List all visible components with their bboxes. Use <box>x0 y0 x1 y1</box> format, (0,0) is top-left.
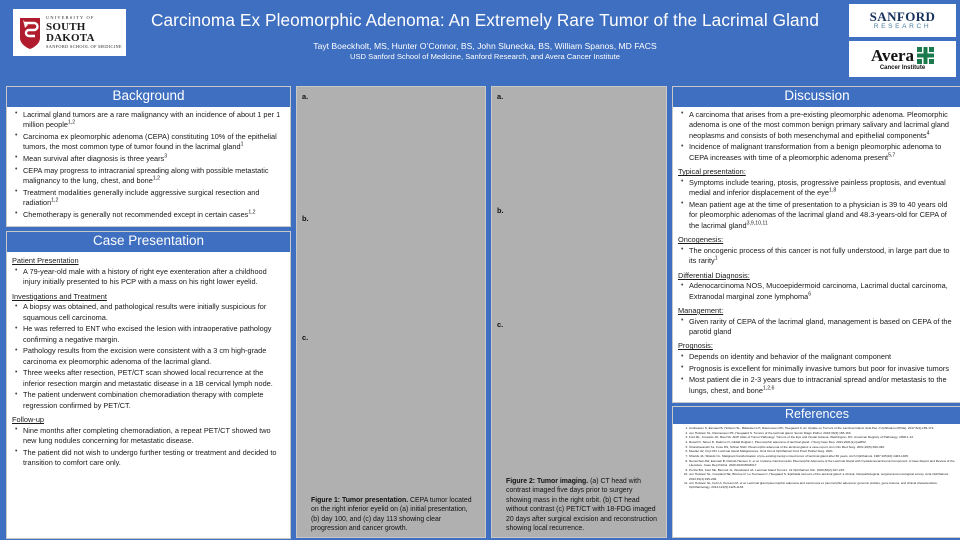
reference-item: Chandravanshi SL, Fuse DS, Sthnar SGD. P… <box>689 445 957 449</box>
right-column: Discussion A carcinoma that arises from … <box>672 86 960 538</box>
sponsor-logos: SANFORD RESEARCH Avera <box>849 4 956 77</box>
figure1-caption: Figure 1: Tumor presentation. CEPA tumor… <box>302 494 480 534</box>
references-heading: References <box>672 406 960 424</box>
list-item: CEPA may progress to intracranial spread… <box>12 166 285 187</box>
list-item: Adenocarcinoma NOS, Mucoepidermoid carci… <box>678 281 956 302</box>
list-item: A 79-year-old male with a history of rig… <box>12 267 285 288</box>
reference-item: Font RL, Croxatto JO, Rao NA. AFIP Atlas… <box>689 435 957 439</box>
citation-ref: 1 <box>241 142 244 148</box>
list-item: He was referred to ENT who excised the l… <box>12 324 285 345</box>
bullet-text: Incidence of malignant transformation fr… <box>689 142 941 161</box>
list-item: Mean survival after diagnosis is three y… <box>12 154 285 164</box>
bullet-text: Symptoms include tearing, ptosis, progre… <box>689 178 946 197</box>
subheading-follow-up: Follow-up <box>12 415 285 425</box>
citation-ref: 3 <box>164 153 167 159</box>
reference-item: Shields JA, Shields CL. Malignant transf… <box>689 454 957 458</box>
investigations-treatment-list: A biopsy was obtained, and pathological … <box>12 302 285 411</box>
citation-ref: 1,8 <box>829 188 836 194</box>
bullet-text: Most patient die in 2-3 years due to int… <box>689 375 947 394</box>
subheading-patient-presentation: Patient Presentation <box>12 256 285 266</box>
citation-ref: 1,2,6 <box>763 385 775 391</box>
list-item: Given rarity of CEPA of the lacrimal gla… <box>678 317 956 338</box>
subheading-oncogenesis: Oncogenesis: <box>678 235 956 245</box>
bullet-text: Lacrimal gland tumors are a rare maligna… <box>23 110 280 129</box>
usd-logo-line3: SANFORD SCHOOL OF MEDICINE <box>46 45 122 49</box>
citation-ref: 1,2 <box>248 209 255 215</box>
discussion-body: A carcinoma that arises from a pre-exist… <box>672 107 960 404</box>
discussion-panel: Discussion A carcinoma that arises from … <box>672 86 960 403</box>
bullet-text: A carcinoma that arises from a pre-exist… <box>689 110 949 140</box>
list-item: The patient did not wish to undergo furt… <box>12 448 285 469</box>
list-item: Carcinoma ex pleomorphic adenoma (CEPA) … <box>12 132 285 153</box>
figure1-label-b: b. <box>302 213 313 223</box>
reference-item: Mueller AV, Criyl DN. Lacrimal Gland Mal… <box>689 449 957 453</box>
oncogenesis-list: The oncogenic process of this cancer is … <box>678 246 956 267</box>
follow-up-list: Nine months after completing chemoradiat… <box>12 426 285 469</box>
figure2-label-a: a. <box>497 91 508 101</box>
reference-item: von Holstein SL, Fehr A, Persson M, et a… <box>689 481 957 490</box>
list-item: Chemotherapy is generally not recommende… <box>12 210 285 220</box>
reference-item: von Holstein SL, Coupland SE, Briscoe D,… <box>689 472 957 481</box>
bullet-text: Mean patient age at the time of presenta… <box>689 200 947 230</box>
reference-item: Andreasen S, Esmaeli B, Holstein SL, Mik… <box>689 426 957 430</box>
background-bullet-list: Lacrimal gland tumors are a rare maligna… <box>12 110 285 220</box>
list-item: Mean patient age at the time of presenta… <box>678 200 956 231</box>
management-list: Given rarity of CEPA of the lacrimal gla… <box>678 317 956 338</box>
bullet-text: Carcinoma ex pleomorphic adenoma (CEPA) … <box>23 132 277 151</box>
case-presentation-body: Patient Presentation A 79-year-old male … <box>6 252 291 539</box>
background-heading: Background <box>6 86 291 107</box>
subheading-prognosis: Prognosis: <box>678 341 956 351</box>
figure1-panel: a. b. c. <box>296 86 486 538</box>
reference-item: Nemechek AW, Esmaeli B, Diebolt-Hansen C… <box>689 459 957 468</box>
references-body: Andreasen S, Esmaeli B, Holstein SL, Mik… <box>672 424 960 538</box>
list-item: The patient underwent combination chemor… <box>12 390 285 411</box>
citation-ref: 5,7 <box>888 152 895 158</box>
subheading-investigations-treatment: Investigations and Treatment <box>12 292 285 302</box>
poster-body: Background Lacrimal gland tumors are a r… <box>0 82 960 540</box>
list-item: A biopsy was obtained, and pathological … <box>12 302 285 323</box>
figure2-item-a: a. <box>497 91 661 201</box>
citation-ref: 1,2 <box>68 120 75 126</box>
bullet-text: Mean survival after diagnosis is three y… <box>23 154 164 163</box>
avera-cross-icon <box>917 47 934 64</box>
list-item: Nine months after completing chemoradiat… <box>12 426 285 447</box>
sanford-logo-line2: RESEARCH <box>874 24 931 31</box>
list-item: Depends on identity and behavior of the … <box>678 352 956 362</box>
citation-ref: 6 <box>808 291 811 297</box>
figure1-label-c: c. <box>302 332 313 342</box>
bullet-text: Treatment modalities generally include a… <box>23 188 259 207</box>
list-item: Three weeks after resection, PET/CT scan… <box>12 368 285 389</box>
reference-item: von Holstein SL, Rasmussen PK, Heegaard … <box>689 431 957 435</box>
figure1-column: a. b. c. <box>296 86 486 538</box>
sanford-research-logo: SANFORD RESEARCH <box>849 4 956 37</box>
usd-logo-text: UNIVERSITY OF SOUTH DAKOTA SANFORD SCHOO… <box>46 16 122 49</box>
bullet-text: Adenocarcinoma NOS, Mucoepidermoid carci… <box>689 281 948 300</box>
bullet-text: Chemotherapy is generally not recommende… <box>23 210 248 219</box>
figure2-item-c: c. <box>497 319 661 431</box>
subheading-typical-presentation: Typical presentation: <box>678 167 956 177</box>
list-item: Symptoms include tearing, ptosis, progre… <box>678 178 956 199</box>
case-presentation-panel: Case Presentation Patient Presentation A… <box>6 231 291 538</box>
list-item: Pathology results from the excision were… <box>12 346 285 367</box>
list-item: Incidence of malignant transformation fr… <box>678 142 956 163</box>
list-item: Prognosis is excellent for minimally inv… <box>678 364 956 374</box>
citation-ref: 1,2 <box>153 176 160 182</box>
citation-ref: 1,2 <box>51 198 58 204</box>
poster-canvas: UNIVERSITY OF SOUTH DAKOTA SANFORD SCHOO… <box>0 0 960 540</box>
list-item: Most patient die in 2-3 years due to int… <box>678 375 956 396</box>
usd-logo-line1: UNIVERSITY OF <box>46 16 122 20</box>
figure1-item-a: a. <box>302 91 480 209</box>
differential-diagnosis-list: Adenocarcinoma NOS, Mucoepidermoid carci… <box>678 281 956 302</box>
list-item: A carcinoma that arises from a pre-exist… <box>678 110 956 141</box>
poster-header: UNIVERSITY OF SOUTH DAKOTA SANFORD SCHOO… <box>0 0 960 82</box>
list-item: Treatment modalities generally include a… <box>12 188 285 209</box>
citation-ref: 4 <box>927 130 930 136</box>
references-list: Andreasen S, Esmaeli B, Holstein SL, Mik… <box>676 426 957 490</box>
figure2-column: a. b. <box>491 86 667 538</box>
prognosis-list: Depends on identity and behavior of the … <box>678 352 956 396</box>
list-item: Lacrimal gland tumors are a rare maligna… <box>12 110 285 131</box>
references-panel: References Andreasen S, Esmaeli B, Holst… <box>672 406 960 538</box>
sanford-logo-line1: SANFORD <box>870 10 936 23</box>
figure1-item-b: b. <box>302 213 480 328</box>
figure1-label-a: a. <box>302 91 313 101</box>
discussion-heading: Discussion <box>672 86 960 107</box>
bullet-text: CEPA may progress to intracranial spread… <box>23 166 269 185</box>
usd-logo-line2: SOUTH DAKOTA <box>46 22 122 44</box>
title-block: Carcinoma Ex Pleomorphic Adenoma: An Ext… <box>135 6 835 62</box>
avera-logo-line1: Avera <box>871 47 914 64</box>
avera-cancer-institute-logo: Avera Cancer Institute <box>849 41 956 77</box>
figure1-item-c: c. <box>302 332 480 449</box>
background-panel: Background Lacrimal gland tumors are a r… <box>6 86 291 227</box>
figure1-caption-title: Figure 1: Tumor presentation. <box>311 497 408 504</box>
figure2-label-c: c. <box>497 319 508 329</box>
patient-presentation-list: A 79-year-old male with a history of rig… <box>12 267 285 288</box>
background-body: Lacrimal gland tumors are a rare maligna… <box>6 107 291 227</box>
discussion-intro-list: A carcinoma that arises from a pre-exist… <box>678 110 956 163</box>
usd-logo: UNIVERSITY OF SOUTH DAKOTA SANFORD SCHOO… <box>13 9 126 56</box>
figure2-item-b: b. <box>497 205 661 315</box>
reference-item: Perzia BG, Katz SE, Bennett JL, Woodward… <box>689 468 957 472</box>
figure2-label-b: b. <box>497 205 508 215</box>
usd-coyote-shield-icon <box>17 16 43 50</box>
subheading-differential-diagnosis: Differential Diagnosis: <box>678 271 956 281</box>
bullet-text: The oncogenic process of this cancer is … <box>689 246 949 265</box>
citation-ref: 1 <box>715 256 718 262</box>
left-column: Background Lacrimal gland tumors are a r… <box>6 86 291 538</box>
author-list: Tayt Boeckholt, MS, Hunter O’Connor, BS,… <box>135 41 835 53</box>
avera-logo-line2: Cancer Institute <box>880 65 925 71</box>
typical-presentation-list: Symptoms include tearing, ptosis, progre… <box>678 178 956 231</box>
reference-item: Rosell D, Tamer D, Dalerno N, Gildall Do… <box>689 440 957 444</box>
figure2-caption-text: (a) CT head with contrast imaged five da… <box>506 478 657 533</box>
figure2-panel: a. b. <box>491 86 667 538</box>
figure2-caption-title: Figure 2: Tumor imaging. <box>506 478 588 485</box>
affiliation-line: USD Sanford School of Medicine, Sanford … <box>135 52 835 62</box>
figure2-caption: Figure 2: Tumor imaging. (a) CT head wit… <box>497 475 661 534</box>
list-item: The oncogenic process of this cancer is … <box>678 246 956 267</box>
poster-title: Carcinoma Ex Pleomorphic Adenoma: An Ext… <box>135 10 835 32</box>
citation-ref: 3,9,10,11 <box>747 220 768 226</box>
subheading-management: Management: <box>678 306 956 316</box>
case-presentation-heading: Case Presentation <box>6 231 291 252</box>
